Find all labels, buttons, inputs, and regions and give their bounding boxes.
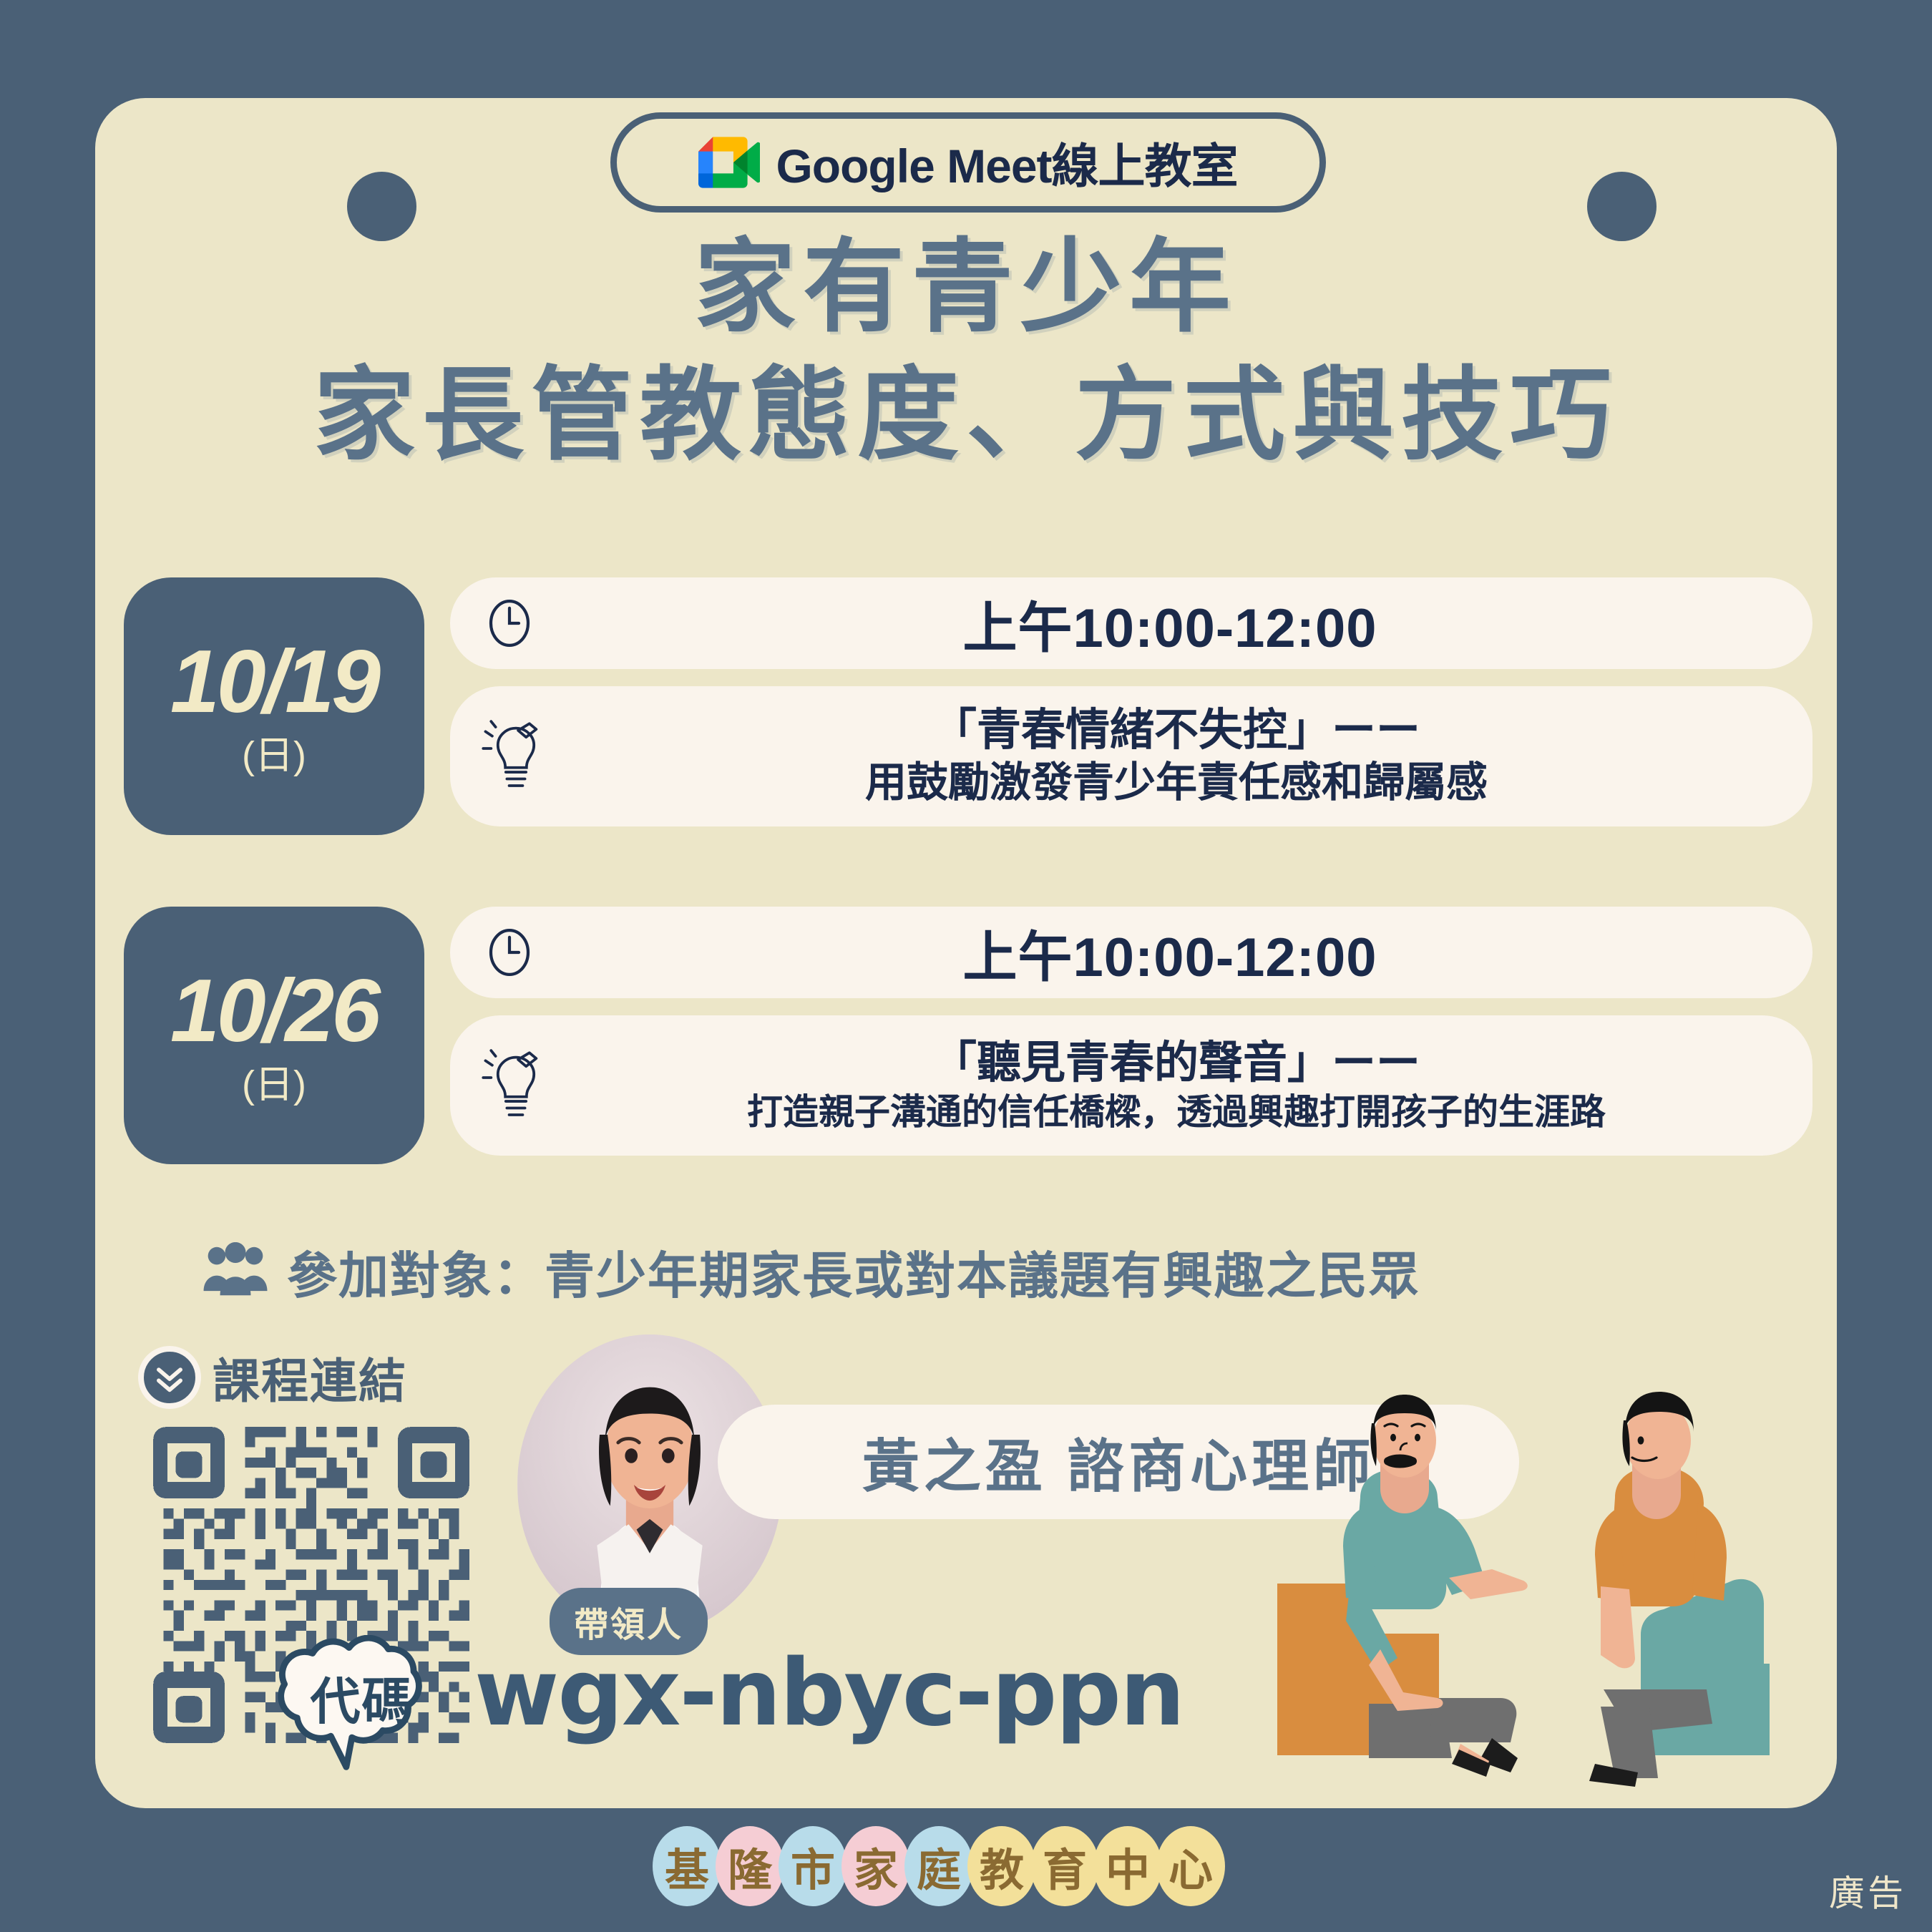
course-link-text: 課程連結 (213, 1343, 407, 1412)
session-weekday: (日) (242, 736, 306, 775)
lightbulb-idea-icon (482, 1048, 550, 1123)
platform-label: Google Meet線上教室 (776, 128, 1237, 197)
session-time: 上午10:00-12:00 (559, 584, 1781, 663)
title-line-1: 家有青少年 (95, 223, 1837, 351)
google-meet-icon (698, 136, 760, 189)
clock-icon (482, 595, 537, 651)
logo-char: 心 (1156, 1826, 1225, 1906)
logo-char: 家 (841, 1826, 910, 1906)
people-group-icon (203, 1242, 268, 1302)
session-topic: 「青春情緒不失控」ーー 用鼓勵激發青少年責任感和歸屬感 (572, 704, 1781, 809)
logo-char: 中 (1093, 1826, 1162, 1906)
clock-icon (482, 924, 537, 980)
audience-row: 參加對象：青少年期家長或對本議題有興趣之民眾 (203, 1236, 1420, 1308)
two-people-talking-illustration (1277, 1369, 1837, 1808)
date-badge: 10/26 (日) (124, 907, 424, 1164)
session-row: 10/26 (日) 上午10:00-12:00 (124, 907, 1813, 1164)
meeting-code-value: wgx-nbyc-ppn (474, 1640, 1184, 1747)
session-topic-line1: 「青春情緒不失控」ーー (932, 706, 1420, 755)
ad-label: 廣告 (1829, 1865, 1906, 1916)
date-badge: 10/19 (日) (124, 577, 424, 835)
code-bubble-label: 代碼 (270, 1635, 453, 1760)
logo-char: 隆 (716, 1826, 784, 1906)
session-time-pill: 上午10:00-12:00 (450, 907, 1813, 998)
session-topic-line1: 「聽見青春的聲音」ーー (932, 1038, 1420, 1088)
session-topic-pill: 「聽見青春的聲音」ーー 打造親子溝通的信任橋樑，透過興趣打開孩子的生涯路 (450, 1015, 1813, 1156)
session-time-pill: 上午10:00-12:00 (450, 577, 1813, 669)
logo-char: 基 (653, 1826, 721, 1906)
google-meet-badge: Google Meet線上教室 (610, 112, 1326, 213)
session-topic-pill: 「青春情緒不失控」ーー 用鼓勵激發青少年責任感和歸屬感 (450, 686, 1813, 826)
organization-logo: 基 隆 市 家 庭 教 育 中 心 (658, 1826, 1225, 1906)
session-weekday: (日) (242, 1065, 306, 1104)
poster-root: Google Meet線上教室 家有青少年 家長管教態度、方式與技巧 10/19… (0, 0, 1932, 1932)
logo-char: 市 (779, 1826, 847, 1906)
double-chevron-down-icon (138, 1346, 201, 1409)
session-topic-line2: 用鼓勵激發青少年責任感和歸屬感 (865, 759, 1488, 806)
logo-char: 育 (1030, 1826, 1099, 1906)
session-row: 10/19 (日) 上午10:00-12:00 (124, 577, 1813, 835)
code-speech-bubble: 代碼 (270, 1635, 453, 1778)
session-time: 上午10:00-12:00 (559, 913, 1781, 992)
logo-char: 教 (967, 1826, 1036, 1906)
course-link-label[interactable]: 課程連結 (138, 1343, 407, 1412)
session-topic-line2: 打造親子溝通的信任橋樑，透過興趣打開孩子的生涯路 (747, 1092, 1606, 1132)
page-title: 家有青少年 家長管教態度、方式與技巧 (95, 223, 1837, 479)
main-card: Google Meet線上教室 家有青少年 家長管教態度、方式與技巧 10/19… (95, 98, 1837, 1808)
audience-text: 參加對象：青少年期家長或對本議題有興趣之民眾 (287, 1236, 1420, 1308)
title-line-2: 家長管教態度、方式與技巧 (95, 351, 1837, 479)
lightbulb-idea-icon (482, 719, 550, 794)
session-date: 10/26 (170, 967, 378, 1055)
session-date: 10/19 (170, 638, 378, 726)
session-topic: 「聽見青春的聲音」ーー 打造親子溝通的信任橋樑，透過興趣打開孩子的生涯路 (572, 1037, 1781, 1135)
logo-char: 庭 (904, 1826, 973, 1906)
